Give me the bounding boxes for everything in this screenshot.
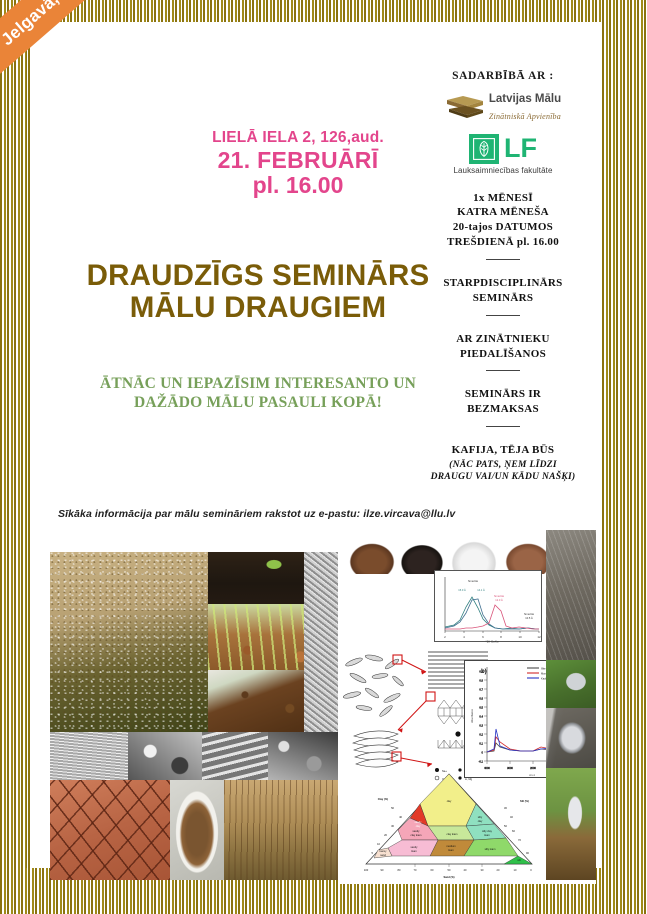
event-date-block: LIELĀ IELA 2, 126,aud. 21. FEBRUĀRĪ pl. …: [148, 130, 448, 198]
svg-text:Smectite: Smectite: [468, 579, 479, 583]
photo-soil-sampler-on-grass: [546, 660, 596, 708]
svg-text:Absorbance: Absorbance: [470, 709, 474, 723]
coffee-note-line-1: (NĀC PATS, ŅEM LĪDZI: [415, 460, 591, 472]
photo-sem-layered-clay-particle: [50, 732, 128, 780]
subtitle-line-1: ĀTNĀC UN IEPAZĪSIM INTERESANTO UN: [48, 374, 468, 393]
texture-label-sandy-loam-2: loam: [411, 849, 417, 853]
svg-text:70: 70: [414, 868, 417, 872]
svg-text:14.1 Å: 14.1 Å: [477, 587, 485, 592]
svg-text:0.3: 0.3: [479, 723, 483, 727]
photo-sem-clay-aggregate: [128, 732, 202, 780]
photo-clay-slurry-in-dish: [170, 780, 224, 880]
photo-sem-clay-platelets: [202, 732, 268, 780]
event-date: 21. FEBRUĀRĪ: [148, 148, 448, 172]
svg-text:40: 40: [510, 815, 513, 819]
svg-text:50: 50: [504, 824, 507, 828]
svg-text:0.8: 0.8: [479, 678, 483, 682]
svg-text:-0.1: -0.1: [479, 759, 484, 763]
svg-text:8: 8: [500, 635, 502, 639]
svg-text:20: 20: [497, 868, 500, 872]
llu-emblem-icon: [469, 134, 499, 164]
svg-text:40: 40: [399, 815, 402, 819]
schedule-line-2: KATRA MĒNEŠA: [415, 205, 591, 220]
coffee-heading: KAFIJA, TĒJA BŪS: [415, 443, 591, 458]
divider-2: [486, 315, 520, 316]
svg-text:30: 30: [391, 824, 394, 828]
texture-label-sandy-clay-loam: sandy: [413, 829, 421, 833]
svg-text:0.2: 0.2: [479, 732, 483, 736]
photo-cracked-red-clay: [50, 780, 170, 880]
svg-text:5: 5: [372, 851, 374, 855]
title-line-1: DRAUDZĪGS SEMINĀRS: [48, 260, 468, 292]
svg-text:Smectite: Smectite: [524, 612, 535, 616]
info-block-coffee: KAFIJA, TĒJA BŪS (NĀC PATS, ŅEM LĪDZI DR…: [415, 443, 591, 484]
photo-collage: 246 81012 °2θ CuKα Smectite 15.0 Å 14.1 …: [28, 530, 617, 884]
svg-text:15.0 Å: 15.0 Å: [458, 587, 466, 592]
event-time: pl. 16.00: [148, 173, 448, 197]
schedule-line-3: 20-tajos DATUMOS: [415, 220, 591, 235]
svg-text:40: 40: [464, 868, 467, 872]
svg-text:0: 0: [530, 868, 532, 872]
texture-label-sandy-clay-2: clay: [416, 824, 421, 828]
divider-1: [486, 259, 520, 260]
svg-text:Smectite: Smectite: [494, 594, 505, 598]
subtitle-line-2: DAŽĀDO MĀLU PASAULI KOPĀ!: [48, 393, 468, 412]
photo-sem-clay-fibres: [304, 552, 340, 732]
coffee-note: (NĀC PATS, ŅEM LĪDZI DRAUGU VAI/UN KĀDU …: [415, 460, 591, 484]
texture-label-silty-clay-2: clay: [478, 819, 483, 823]
page-title: DRAUDZĪGS SEMINĀRS MĀLU DRAUGIEM: [48, 260, 468, 324]
event-venue: LIELĀ IELA 2, 126,aud.: [148, 130, 448, 146]
texture-label-loamy-sand: loamy: [380, 849, 388, 853]
photo-clay-powder-brown: [348, 542, 396, 574]
texture-label-silt: silt: [517, 858, 520, 862]
divider-4: [486, 426, 520, 427]
clay-layers-icon: [445, 94, 485, 120]
svg-text:0.5: 0.5: [479, 705, 483, 709]
scientists-line-1: AR ZINĀTNIEKU: [415, 332, 591, 347]
page-subtitle: ĀTNĀC UN IEPAZĪSIM INTERESANTO UN DAŽĀDO…: [48, 374, 468, 413]
photo-boot-on-spade-digging: [546, 768, 596, 880]
latvijas-malu-logo-text: Latvijas Mālu Zinātniskā Apvienība: [489, 90, 561, 124]
axis-label-sand: Sand (%): [443, 875, 454, 879]
svg-text:2: 2: [444, 635, 446, 639]
contact-info: Sīkāka informācija par mālu semināriem r…: [58, 508, 528, 520]
chart-xrd-diffractogram: 246 81012 °2θ CuKα Smectite 15.0 Å 14.1 …: [434, 570, 542, 642]
svg-text:10: 10: [514, 868, 517, 872]
info-block-schedule: 1x MĒNESĪ KATRA MĒNEŠA 20-tajos DATUMOS …: [415, 191, 591, 250]
texture-label-silty-clay-loam: silty clay: [482, 829, 493, 833]
texture-label-sandy-clay-loam-2: clay loam: [411, 833, 422, 837]
scientists-line-2: PIEDALĪŠANOS: [415, 347, 591, 362]
svg-text:10: 10: [518, 635, 522, 639]
svg-text:0.9: 0.9: [479, 669, 483, 673]
svg-text:50: 50: [391, 806, 394, 810]
svg-text:0.7: 0.7: [479, 687, 483, 691]
latvijas-malu-subtitle: Zinātniskā Apvienība: [489, 112, 561, 121]
svg-text:50: 50: [448, 868, 451, 872]
svg-text:90: 90: [526, 851, 529, 855]
collaboration-heading: SADARBĪBĀ AR :: [415, 70, 591, 82]
lf-letters: LF: [504, 135, 537, 162]
science-panel: 246 81012 °2θ CuKα Smectite 15.0 Å 14.1 …: [338, 530, 596, 884]
texture-label-silty-loam: silty loam: [485, 847, 496, 851]
latvijas-malu-logo: Latvijas Mālu Zinātniskā Apvienība: [415, 90, 591, 124]
coffee-note-line-2: DRAUGU VAI/UN KĀDU NAŠĶI): [415, 472, 591, 484]
svg-text:80: 80: [398, 868, 401, 872]
svg-text:90: 90: [381, 868, 384, 872]
svg-text:30: 30: [481, 868, 484, 872]
texture-label-clay: clay: [447, 799, 452, 803]
texture-label-silty-clay-loam-2: loam: [484, 833, 490, 837]
svg-text:°2θ CuKα: °2θ CuKα: [486, 640, 499, 644]
texture-label-sandy-loam: sandy: [411, 845, 419, 849]
svg-text:12: 12: [537, 635, 541, 639]
chart-soil-texture-triangle: clay silty clay silty clay loam clay loa…: [354, 768, 544, 880]
svg-text:0.4: 0.4: [479, 714, 483, 718]
svg-text:6: 6: [482, 635, 484, 639]
svg-text:4: 4: [463, 635, 465, 639]
axis-label-clay: Clay (%): [378, 797, 388, 801]
schedule-line-4: TREŠDIENĀ pl. 16.00: [415, 235, 591, 250]
photo-sem-clay-grains: [268, 732, 340, 780]
poster-content: SADARBĪBĀ AR : Latvijas Mālu Zinātniskā …: [30, 22, 601, 868]
info-block-scientists: AR ZINĀTNIEKU PIEDALĪŠANOS: [415, 332, 591, 362]
texture-label-sandy-clay: sandy: [415, 820, 423, 824]
svg-text:0: 0: [482, 750, 484, 754]
svg-text:60: 60: [431, 868, 434, 872]
title-line-2: MĀLU DRAUGIEM: [48, 292, 468, 324]
svg-text:0.6: 0.6: [479, 696, 483, 700]
photo-soil-core-sampler: [546, 708, 596, 768]
photo-sandy-soil-texture: [50, 552, 208, 732]
divider-3: [486, 370, 520, 371]
svg-text:0.1: 0.1: [479, 741, 483, 745]
texture-label-medium-loam: medium: [446, 844, 455, 848]
axis-label-silt: Silt (%): [520, 799, 529, 803]
svg-text:100: 100: [364, 868, 369, 872]
svg-text:70: 70: [518, 838, 521, 842]
photo-dry-cracked-ground: [546, 530, 596, 660]
texture-label-medium-loam-2: loam: [448, 848, 454, 852]
texture-label-silty-clay: silty: [478, 815, 483, 819]
texture-label-loamy-sand-2: sand: [380, 853, 386, 857]
latvijas-malu-name: Latvijas Mālu: [489, 93, 561, 105]
texture-label-clay-loam: clay loam: [447, 832, 458, 836]
svg-text:20: 20: [384, 833, 387, 837]
svg-text:60: 60: [512, 829, 515, 833]
svg-text:10: 10: [377, 842, 380, 846]
svg-text:30: 30: [504, 806, 507, 810]
photo-soil-profile-wall: [224, 780, 340, 880]
